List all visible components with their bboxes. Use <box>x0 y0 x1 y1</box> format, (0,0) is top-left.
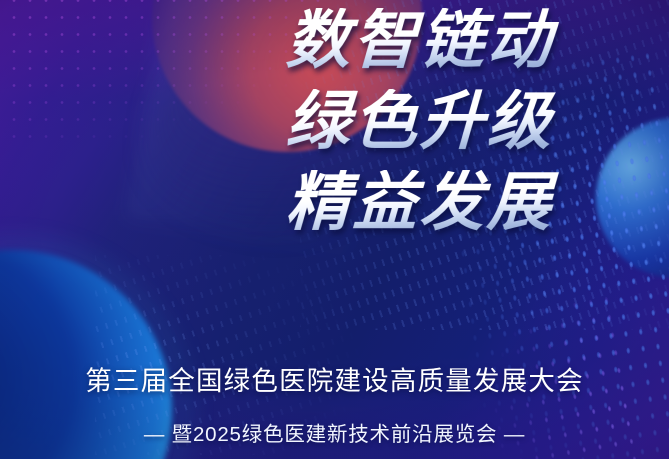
subtitle-block: 第三届全国绿色医院建设高质量发展大会 — 暨2025绿色医建新技术前沿展览会 — <box>0 359 669 447</box>
headline-line-1: 数智链动 <box>204 8 636 72</box>
banner-content: 数智链动 绿色升级 精益发展 第三届全国绿色医院建设高质量发展大会 — 暨202… <box>0 0 669 459</box>
headline-line-3: 精益发展 <box>204 170 636 234</box>
headline-line-2: 绿色升级 <box>204 89 636 153</box>
exhibition-subtitle: — 暨2025绿色医建新技术前沿展览会 — <box>0 417 669 447</box>
conference-banner: 数智链动 绿色升级 精益发展 第三届全国绿色医院建设高质量发展大会 — 暨202… <box>0 0 669 459</box>
headline-block: 数智链动 绿色升级 精益发展 <box>205 8 635 234</box>
conference-title: 第三届全国绿色医院建设高质量发展大会 <box>0 359 669 398</box>
